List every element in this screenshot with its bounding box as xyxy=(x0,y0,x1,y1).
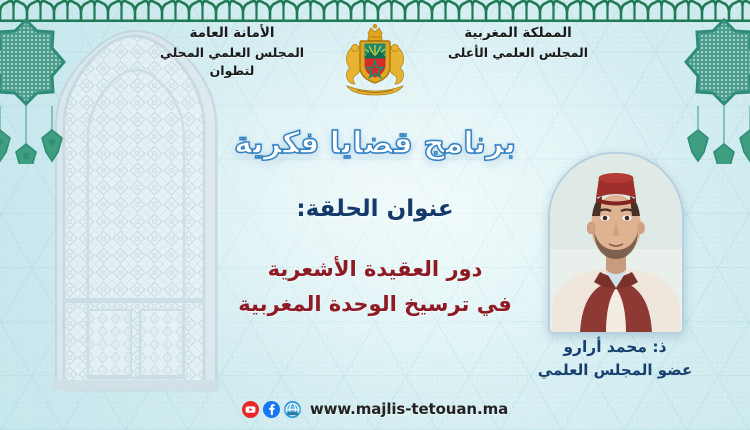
speaker-name: ذ: محمد أرارو xyxy=(520,336,710,359)
youtube-icon[interactable] xyxy=(242,401,259,418)
facebook-icon[interactable] xyxy=(263,401,280,418)
website-url[interactable]: www.majlis-tetouan.ma xyxy=(310,400,508,418)
footer: www.majlis-tetouan.ma xyxy=(0,400,750,418)
speaker-info: ذ: محمد أرارو عضو المجلس العلمي xyxy=(520,336,710,382)
program-card: المملكة المغربية المجلس العلمي الأعلى xyxy=(0,0,750,430)
speaker-portrait-frame xyxy=(548,152,684,334)
speaker-portrait xyxy=(550,154,682,332)
website-icon[interactable] xyxy=(284,401,301,418)
speaker-role: عضو المجلس العلمي xyxy=(520,359,710,382)
